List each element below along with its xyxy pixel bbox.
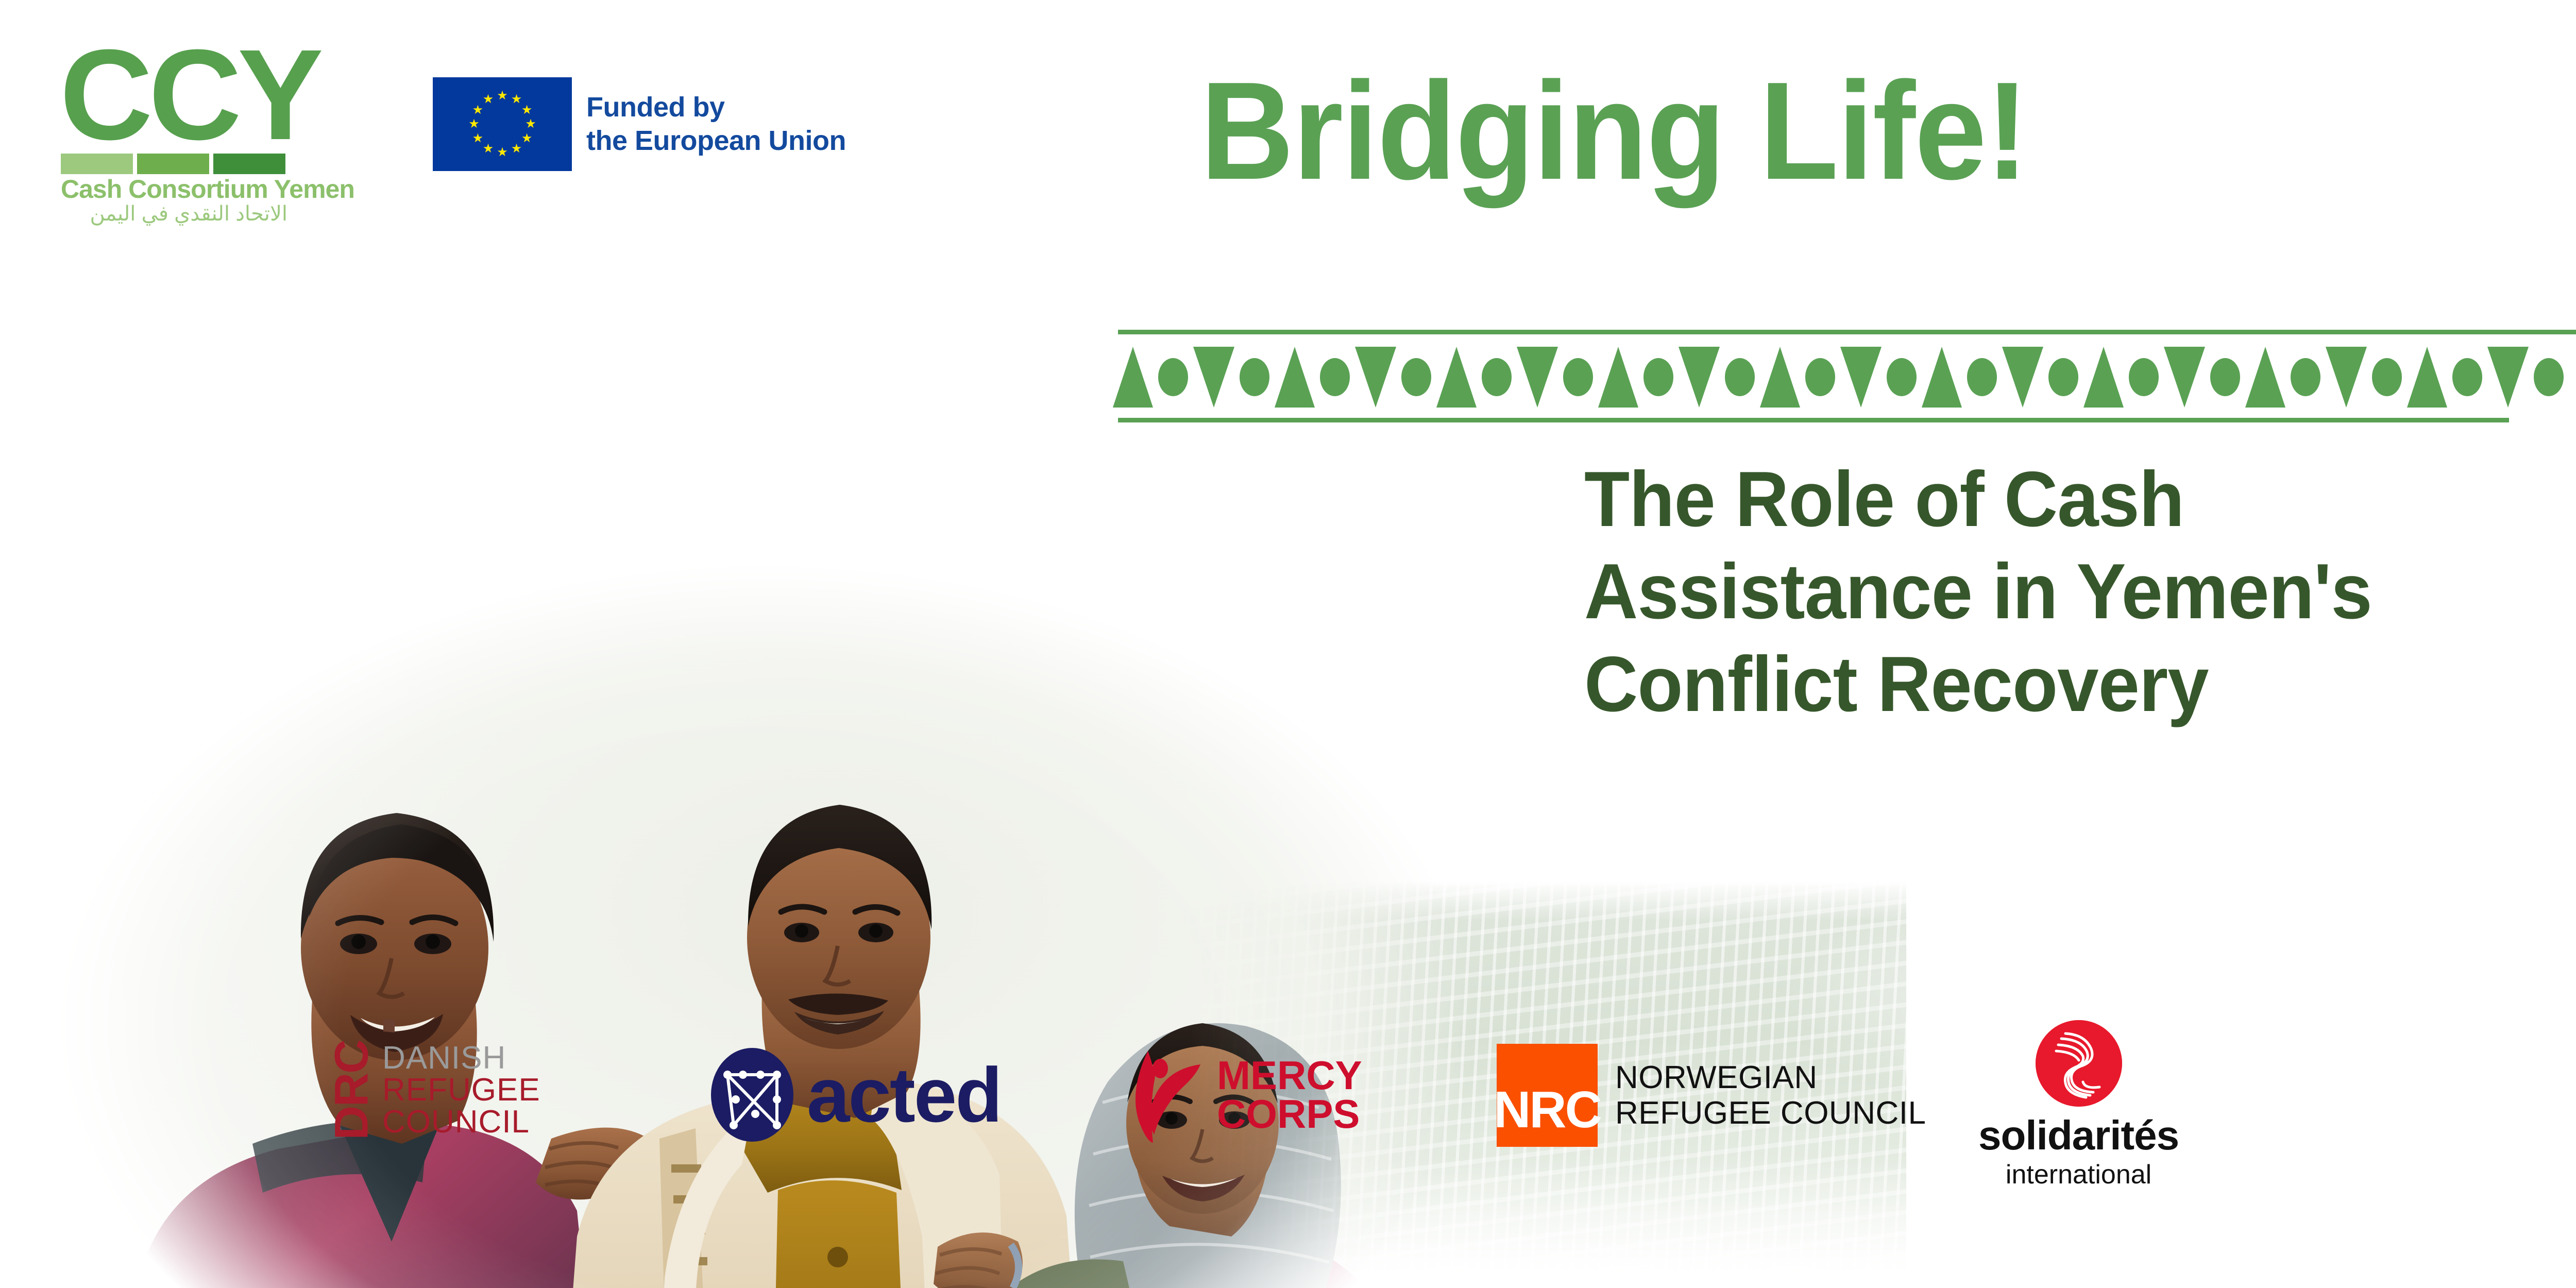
divider-triangle-down-icon [2002, 347, 2043, 408]
divider-line-bottom [1118, 418, 2509, 422]
divider-line-top [1118, 330, 2576, 334]
partner-logo-solidarites: solidarités international [1978, 1020, 2179, 1194]
divider-shape-row [1113, 344, 2576, 410]
acted-mark-icon [711, 1048, 793, 1142]
divider-triangle-down-icon [1355, 347, 1396, 408]
divider-circle-icon [2291, 358, 2320, 396]
solidarites-wordmark: solidarités [1978, 1115, 2179, 1156]
divider-triangle-down-icon [1193, 347, 1234, 408]
divider-circle-icon [1401, 358, 1431, 396]
drc-mark-icon: DRC [330, 1040, 374, 1141]
partner-logo-nrc: NRC NORWEGIAN REFUGEE COUNCIL [1497, 1044, 1926, 1147]
divider-circle-icon [1563, 358, 1593, 396]
divider-circle-icon [2452, 358, 2482, 396]
divider-triangle-up-icon [1436, 347, 1477, 408]
ccy-name-ar: الاتحاد النقدي في اليمن [61, 202, 287, 226]
eu-star-icon: ★ [483, 143, 494, 155]
nrc-wordmark: NORWEGIAN REFUGEE COUNCIL [1615, 1060, 1926, 1131]
partner-logo-drc: DRC DANISH REFUGEE COUNCIL [330, 1040, 540, 1141]
divider-triangle-down-icon [1679, 347, 1720, 408]
divider-triangle-down-icon [2487, 347, 2529, 408]
divider-circle-icon [2372, 358, 2402, 396]
nrc-mark-icon: NRC [1497, 1044, 1598, 1147]
nrc-line-2: REFUGEE COUNCIL [1615, 1095, 1926, 1131]
divider-triangle-down-icon [1517, 347, 1558, 408]
nrc-line-1: NORWEGIAN [1615, 1060, 1926, 1095]
acted-wordmark: acted [807, 1056, 1001, 1133]
divider-circle-icon [2534, 358, 2564, 396]
divider-triangle-up-icon [1113, 347, 1153, 408]
eu-star-icon: ★ [472, 105, 483, 116]
eu-funding-text: Funded bythe European Union [586, 91, 846, 158]
eu-flag-icon: ★★★★★★★★★★★★ [433, 77, 572, 171]
divider-triangle-up-icon [1275, 347, 1315, 408]
page-subtitle: The Role of Cash Assistance in Yemen's C… [1584, 453, 2426, 731]
eu-star-icon: ★ [483, 94, 494, 105]
solidarites-hands-icon [2036, 1020, 2122, 1107]
ccy-bar-2 [137, 154, 209, 174]
mc-line-1: MERCY [1217, 1056, 1362, 1095]
eu-star-icon: ★ [511, 94, 522, 105]
drc-line-1: DANISH [382, 1042, 540, 1074]
partner-logo-strip: DRC DANISH REFUGEE COUNCIL acted [0, 1025, 2576, 1200]
divider-circle-icon [1482, 358, 1512, 396]
divider-triangle-up-icon [1760, 347, 1800, 408]
eu-star-icon: ★ [497, 90, 508, 101]
ccy-logo: CCY Cash Consortium Yemen الاتحاد النقدي… [57, 21, 325, 237]
divider-circle-icon [2048, 358, 2078, 396]
ccy-name-en: Cash Consortium Yemen [61, 174, 354, 204]
drc-wordmark: DANISH REFUGEE COUNCIL [382, 1042, 540, 1138]
divider-circle-icon [1643, 358, 1673, 396]
divider-circle-icon [2129, 358, 2159, 396]
mercy-corps-wordmark: MERCY CORPS [1217, 1056, 1362, 1133]
divider-circle-icon [1887, 358, 1917, 396]
divider-triangle-down-icon [1840, 347, 1882, 408]
decorative-divider [1118, 330, 2576, 422]
eu-star-icon: ★ [511, 143, 522, 155]
solidarites-subwordmark: international [2006, 1156, 2151, 1194]
divider-circle-icon [1240, 358, 1269, 396]
eu-star-icon: ★ [521, 133, 533, 144]
eu-star-icon: ★ [468, 118, 480, 130]
divider-circle-icon [1725, 358, 1755, 396]
eu-star-icon: ★ [497, 147, 508, 158]
divider-triangle-down-icon [2164, 347, 2205, 408]
divider-circle-icon [2210, 358, 2240, 396]
eu-star-icon: ★ [525, 118, 536, 130]
divider-circle-icon [1805, 358, 1835, 396]
ccy-bar-3 [213, 154, 285, 174]
divider-triangle-up-icon [2083, 347, 2124, 408]
divider-circle-icon [1158, 358, 1188, 396]
mc-line-2: CORPS [1217, 1095, 1362, 1133]
divider-triangle-up-icon [1922, 347, 1962, 408]
ccy-acronym: CCY [60, 23, 321, 166]
drc-line-3: COUNCIL [382, 1106, 540, 1138]
ccy-bar-1 [61, 154, 133, 174]
partner-logo-mercy-corps: MERCY CORPS [1123, 1046, 1362, 1144]
partner-logo-acted: acted [711, 1048, 1001, 1142]
eu-funding-logo: ★★★★★★★★★★★★ Funded bythe European Union [433, 77, 846, 171]
eu-star-icon: ★ [472, 133, 483, 144]
divider-triangle-up-icon [2407, 347, 2447, 408]
divider-triangle-down-icon [2326, 347, 2367, 408]
divider-circle-icon [1967, 358, 1997, 396]
mercy-corps-leaf-icon [1123, 1046, 1206, 1144]
eu-star-icon: ★ [521, 105, 533, 116]
drc-line-2: REFUGEE [382, 1074, 540, 1106]
page-title: Bridging Life! [1200, 62, 2028, 201]
divider-circle-icon [1320, 358, 1350, 396]
divider-triangle-up-icon [2245, 347, 2285, 408]
divider-triangle-up-icon [1598, 347, 1638, 408]
